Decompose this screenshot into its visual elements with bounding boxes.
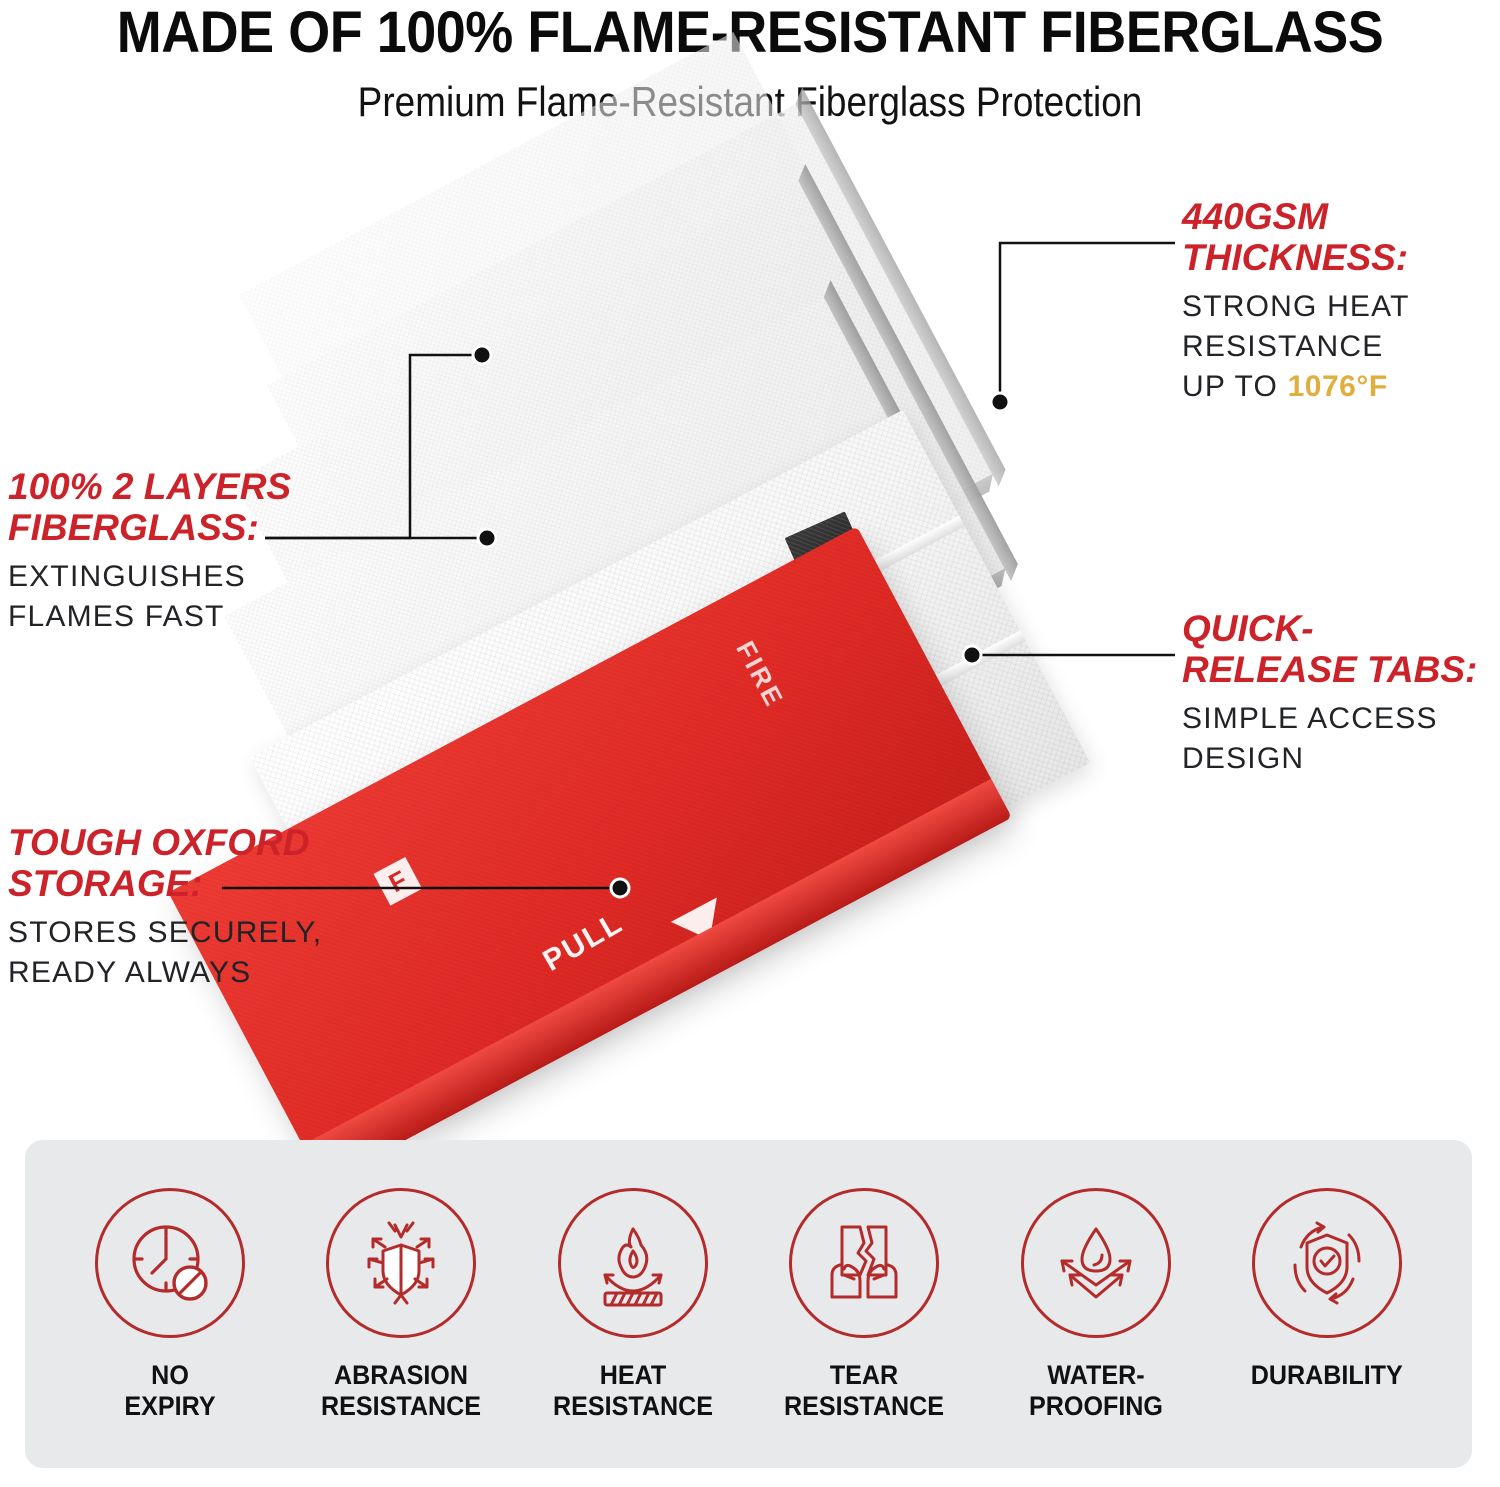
- callout-quick-release-tabs: QUICK- RELEASE TABS: SIMPLE ACCESS DESIG…: [1182, 608, 1497, 779]
- feature-label: HEAT RESISTANCE: [553, 1360, 713, 1422]
- pouch-badge: F: [374, 857, 423, 906]
- feature-icons-panel: NO EXPIRY ABRASION RESISTANCE: [25, 1140, 1472, 1468]
- feature-icon-ring: [326, 1188, 476, 1338]
- pouch-hem: [302, 779, 1011, 1184]
- feature-tear-resistance: TEAR RESISTANCE: [759, 1188, 969, 1422]
- callout-title: 440GSM THICKNESS:: [1182, 196, 1492, 278]
- callout-body: STORES SECURELY, READY ALWAYS: [8, 913, 353, 993]
- callout-two-layers: 100% 2 LAYERS FIBERGLASS: EXTINGUISHES F…: [8, 466, 338, 637]
- page-headline: MADE OF 100% FLAME-RESISTANT FIBERGLASS: [53, 2, 1448, 64]
- callout-body: STRONG HEAT RESISTANCE UP TO 1076°F: [1182, 287, 1492, 407]
- callout-title: TOUGH OXFORD STORAGE:: [8, 822, 353, 904]
- callout-title: QUICK- RELEASE TABS:: [1182, 608, 1497, 690]
- feature-label: TEAR RESISTANCE: [784, 1360, 944, 1422]
- feature-icon-ring: [1252, 1188, 1402, 1338]
- feature-icon-ring: [558, 1188, 708, 1338]
- hands-tearing-fabric-icon: [814, 1213, 914, 1313]
- feature-durability: DURABILITY: [1222, 1188, 1432, 1391]
- shield-arrows-abrasion-icon: [351, 1213, 451, 1313]
- feature-abrasion-resistance: ABRASION RESISTANCE: [296, 1188, 506, 1422]
- water-droplet-layers-icon: [1046, 1213, 1146, 1313]
- shield-check-cycle-icon: [1277, 1213, 1377, 1313]
- feature-icon-ring: [789, 1188, 939, 1338]
- callout-oxford-storage: TOUGH OXFORD STORAGE: STORES SECURELY, R…: [8, 822, 353, 993]
- callout-title: 100% 2 LAYERS FIBERGLASS:: [8, 466, 338, 548]
- temperature-value: 1076°F: [1288, 370, 1388, 403]
- feature-heat-resistance: HEAT RESISTANCE: [528, 1188, 738, 1422]
- pouch-pull-label: PULL: [538, 906, 630, 979]
- pouch-side-mark: FIRE: [729, 636, 790, 713]
- feature-label: NO EXPIRY: [124, 1360, 215, 1422]
- feature-icon-ring: [1021, 1188, 1171, 1338]
- callout-body: EXTINGUISHES FLAMES FAST: [8, 557, 338, 637]
- feature-label: ABRASION RESISTANCE: [321, 1360, 481, 1422]
- feature-no-expiry: NO EXPIRY: [65, 1188, 275, 1422]
- feature-label: DURABILITY: [1251, 1360, 1403, 1391]
- callout-gsm-thickness: 440GSM THICKNESS: STRONG HEAT RESISTANCE…: [1182, 196, 1492, 407]
- callout-body: SIMPLE ACCESS DESIGN: [1182, 699, 1497, 779]
- flame-over-fabric-heat-icon: [583, 1213, 683, 1313]
- clock-no-expiry-icon: [122, 1215, 218, 1311]
- feature-icon-ring: [95, 1188, 245, 1338]
- feature-label: WATER- PROOFING: [1029, 1360, 1163, 1422]
- feature-waterproofing: WATER- PROOFING: [991, 1188, 1201, 1422]
